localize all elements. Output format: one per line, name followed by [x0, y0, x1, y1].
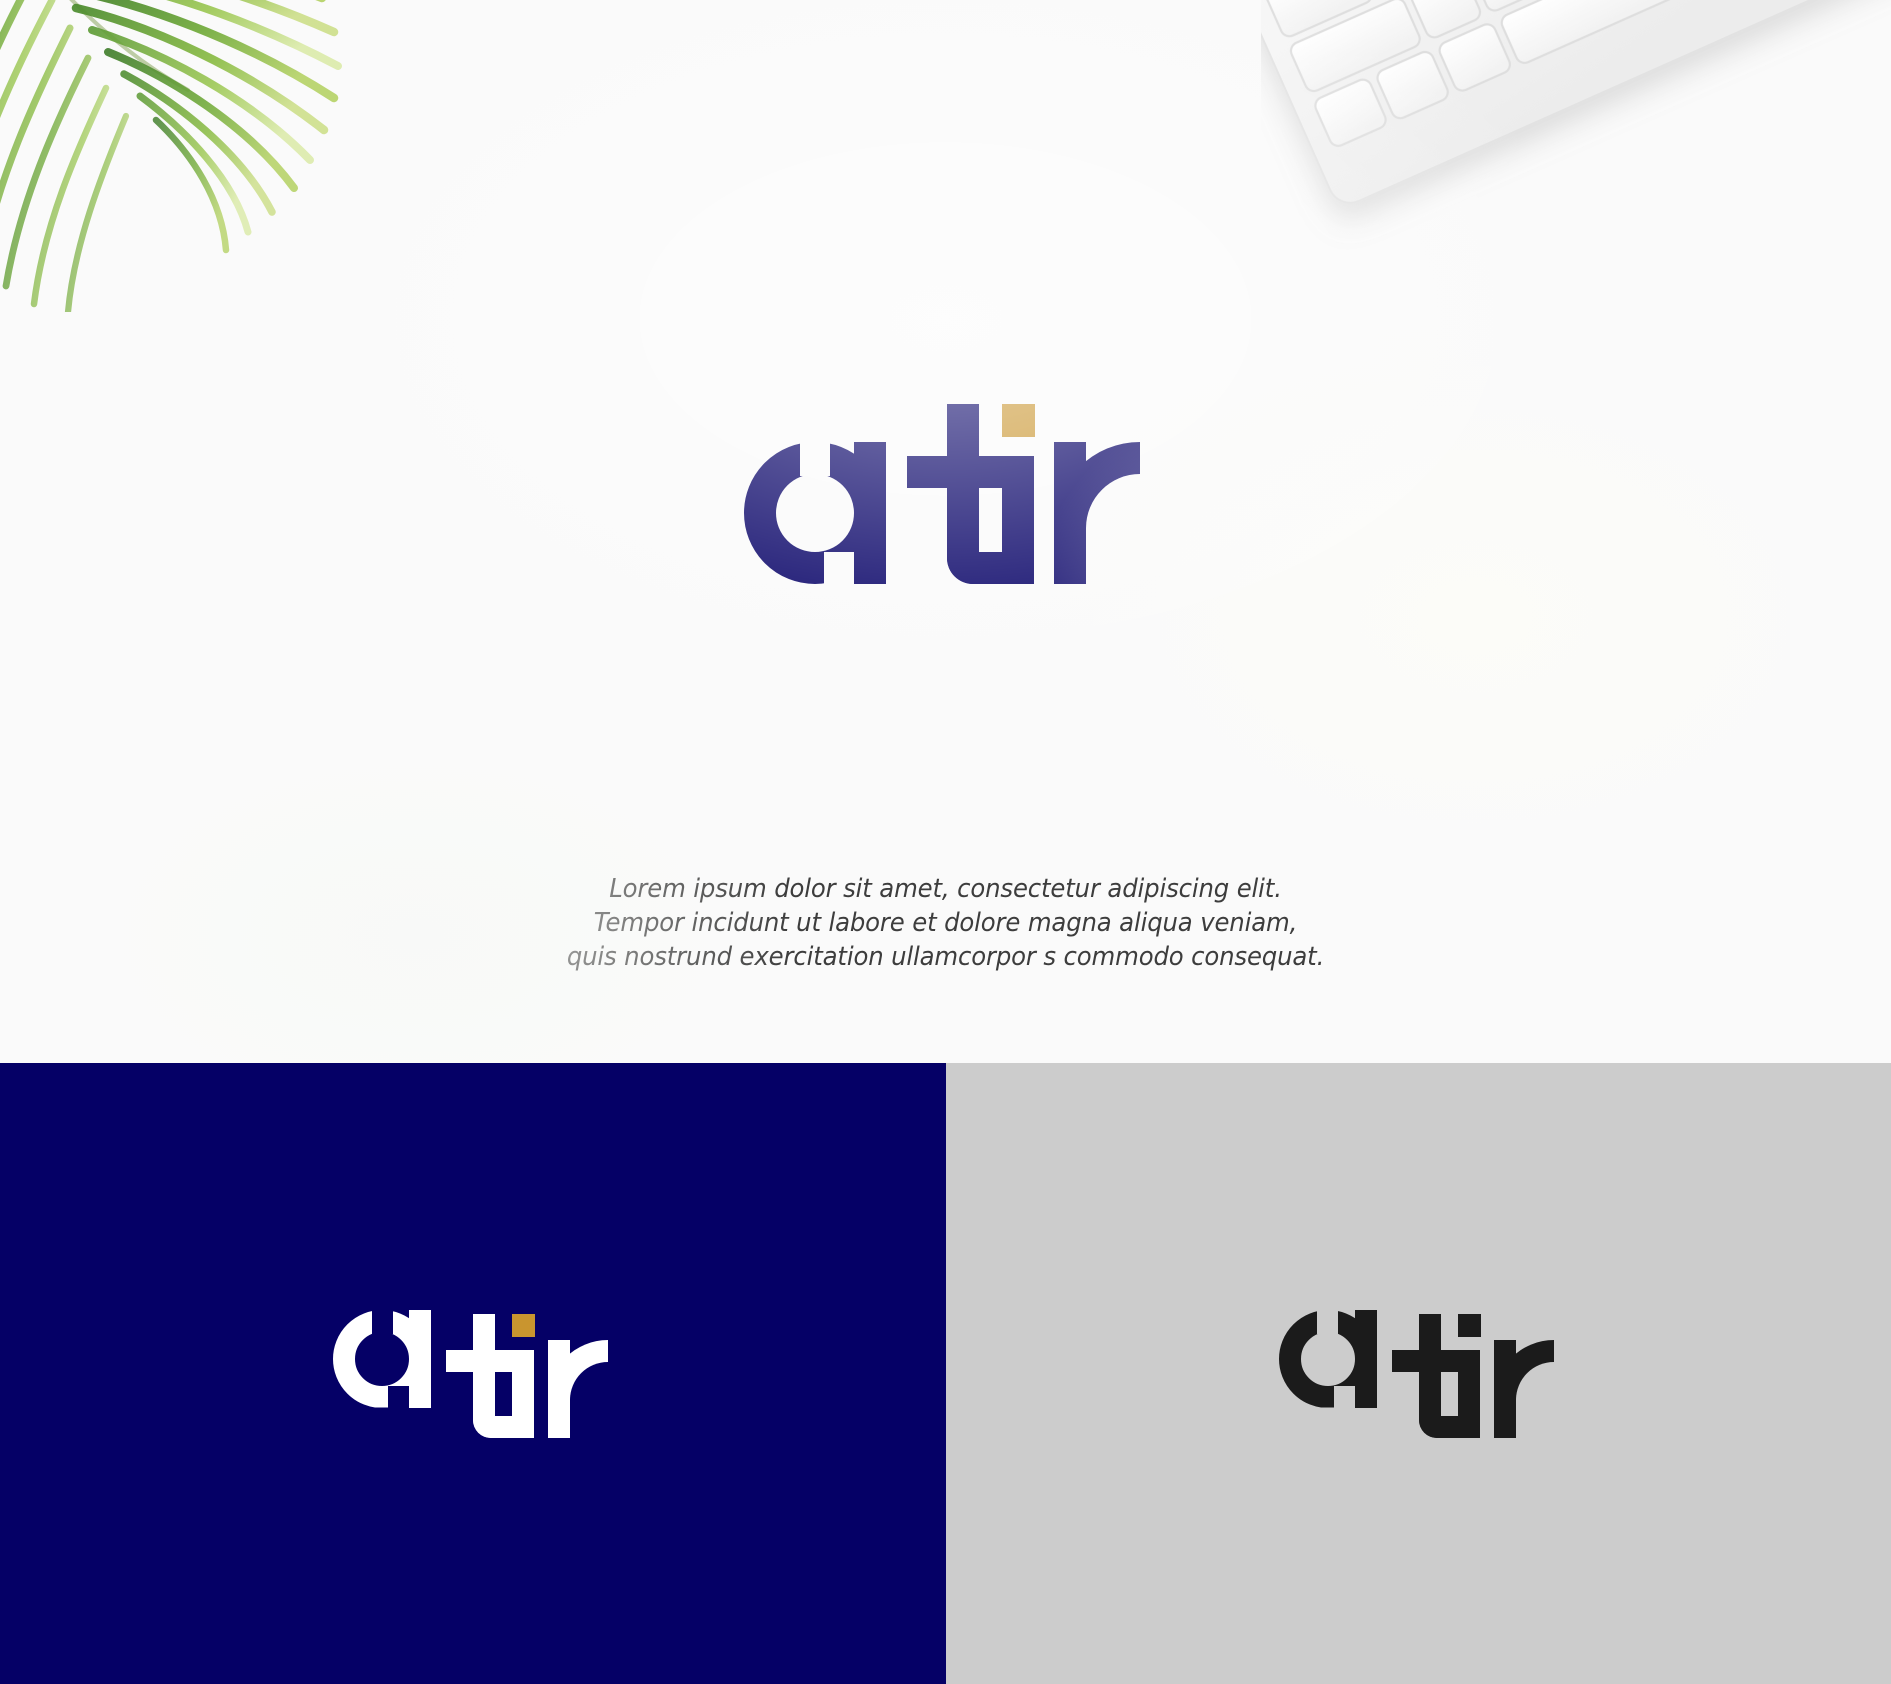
- logo-presentation-mockup: QWE RTY ASD FG ZXC: [0, 0, 1891, 1684]
- logo-accent-dot: [1002, 404, 1035, 437]
- tagline-line-2: Tempor incidunt ut labore et dolore magn…: [43, 907, 1849, 941]
- logo-wordmark-primary: [744, 398, 1148, 584]
- tagline-line-3: quis nostrund exercitation ullamcorpor s…: [43, 941, 1849, 975]
- hero-panel: QWE RTY ASD FG ZXC: [0, 0, 1891, 1063]
- palm-leaf-icon: [0, 0, 400, 312]
- logo-wordmark-on-navy: [333, 1310, 613, 1438]
- logo-letter-i: [1458, 1314, 1481, 1438]
- swatch-panel-grey: [946, 1063, 1891, 1684]
- tagline: Lorem ipsum dolor sit amet, consectetur …: [43, 873, 1849, 975]
- logo-accent-dot: [512, 1314, 535, 1337]
- logo-wordmark-on-grey: [1279, 1310, 1559, 1438]
- logo-letter-r: [1054, 442, 1148, 584]
- tagline-line-1: Lorem ipsum dolor sit amet, consectetur …: [43, 873, 1849, 907]
- logo-letter-r: [548, 1340, 613, 1438]
- logo-letter-a: [333, 1310, 431, 1408]
- swatch-panel-navy: [0, 1063, 946, 1684]
- logo-accent-dot: [1458, 1314, 1481, 1337]
- logo-letter-a: [744, 442, 886, 584]
- logo-letter-a: [1279, 1310, 1377, 1408]
- logo-letter-r: [1494, 1340, 1559, 1438]
- logo-letter-i: [512, 1314, 535, 1438]
- keyboard-icon: QWE RTY ASD FG ZXC: [1261, 0, 1891, 434]
- logo-letter-i: [1002, 404, 1035, 584]
